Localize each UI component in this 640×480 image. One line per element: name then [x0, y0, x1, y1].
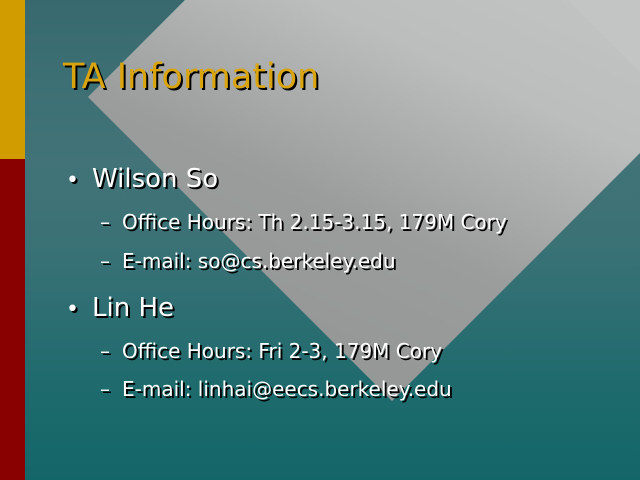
presentation-slide: TA Information •Wilson So –Office Hours:… — [0, 0, 640, 480]
bullet-label: Lin He — [92, 293, 174, 323]
sub-bullet-wilson-email: –E-mail: so@cs.berkeley.edu — [100, 249, 396, 273]
dash-marker-icon: – — [100, 249, 122, 273]
sub-bullet-linhe-email: –E-mail: linhai@eecs.berkeley.edu — [100, 377, 452, 401]
bullet-dot-icon: • — [66, 297, 92, 322]
bullet-label: Wilson So — [92, 164, 218, 194]
page-title: TA Information — [63, 57, 319, 97]
sub-bullet-label: Office Hours: Th 2.15-3.15, 179M Cory — [122, 210, 507, 234]
bullet-item-wilson-so: •Wilson So — [66, 164, 218, 194]
bullet-item-lin-he: •Lin He — [66, 293, 174, 323]
dash-marker-icon: – — [100, 210, 122, 234]
bullet-dot-icon: • — [66, 168, 92, 193]
sub-bullet-linhe-office-hours: –Office Hours: Fri 2-3, 179M Cory — [100, 339, 442, 363]
sub-bullet-label: E-mail: so@cs.berkeley.edu — [122, 249, 396, 273]
slide-content: TA Information •Wilson So –Office Hours:… — [0, 0, 640, 480]
sub-bullet-wilson-office-hours: –Office Hours: Th 2.15-3.15, 179M Cory — [100, 210, 507, 234]
dash-marker-icon: – — [100, 339, 122, 363]
sub-bullet-label: Office Hours: Fri 2-3, 179M Cory — [122, 339, 442, 363]
dash-marker-icon: – — [100, 377, 122, 401]
sub-bullet-label: E-mail: linhai@eecs.berkeley.edu — [122, 377, 452, 401]
